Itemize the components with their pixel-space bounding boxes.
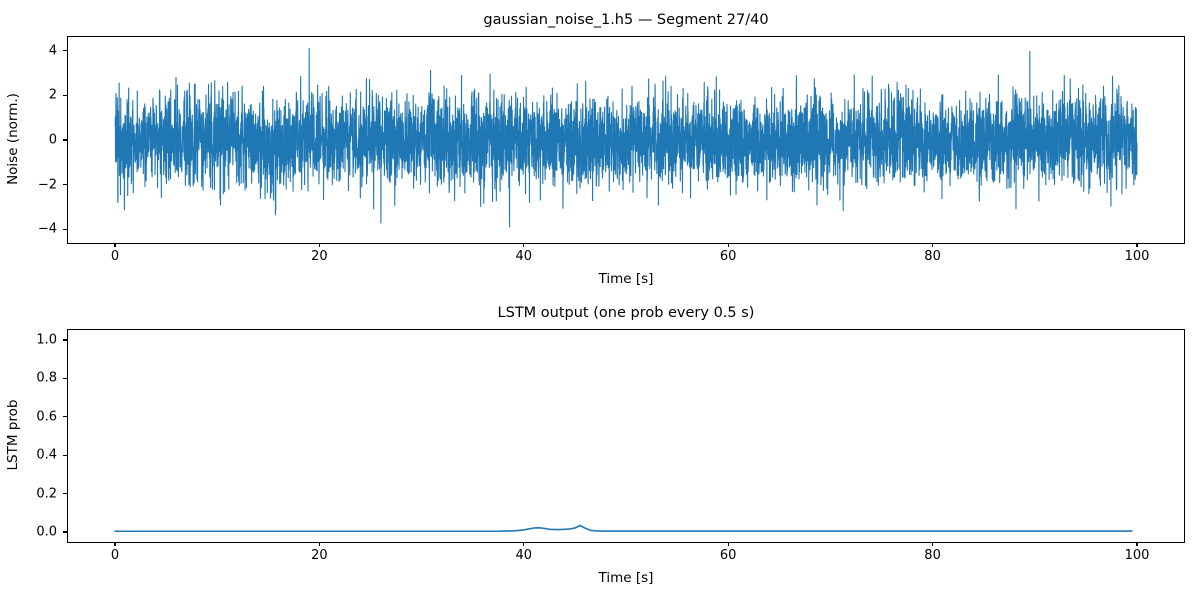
- x-tick-mark: [319, 542, 320, 546]
- y-tick-mark: [63, 50, 67, 51]
- x-tick-mark: [1136, 542, 1137, 546]
- y-tick-mark: [63, 95, 67, 96]
- x-tick-mark: [523, 243, 524, 247]
- x-axis-label: Time [s]: [67, 271, 1185, 287]
- x-tick-label: 60: [720, 249, 737, 264]
- noise-waveform-axes: gaussian_noise_1.h5 — Segment 27/40: [67, 36, 1185, 244]
- matplotlib-figure: gaussian_noise_1.h5 — Segment 27/40 LSTM…: [0, 0, 1200, 600]
- x-tick-mark: [932, 243, 933, 247]
- y-tick-mark: [63, 455, 67, 456]
- y-tick-mark: [63, 531, 67, 532]
- y-tick-mark: [63, 339, 67, 340]
- x-tick-mark: [728, 542, 729, 546]
- x-tick-label: 0: [111, 548, 119, 563]
- noise-trace: [115, 49, 1137, 227]
- x-tick-mark: [114, 243, 115, 247]
- x-tick-mark: [319, 243, 320, 247]
- x-tick-label: 80: [924, 548, 941, 563]
- lstm-probability-title: LSTM output (one prob every 0.5 s): [68, 305, 1184, 321]
- lstm-probability-axes: LSTM output (one prob every 0.5 s): [67, 329, 1185, 543]
- x-tick-label: 100: [1125, 548, 1150, 563]
- x-tick-mark: [114, 542, 115, 546]
- noise-waveform-title: gaussian_noise_1.h5 — Segment 27/40: [68, 12, 1184, 28]
- noise-waveform-plot: [68, 37, 1184, 243]
- x-axis-label: Time [s]: [67, 570, 1185, 586]
- x-tick-label: 40: [516, 548, 533, 563]
- x-tick-label: 0: [111, 249, 119, 264]
- x-tick-label: 60: [720, 548, 737, 563]
- x-tick-mark: [1136, 243, 1137, 247]
- y-axis-label: LSTM prob: [5, 328, 21, 542]
- x-tick-label: 40: [516, 249, 533, 264]
- x-tick-mark: [932, 542, 933, 546]
- x-tick-label: 20: [311, 548, 328, 563]
- x-tick-label: 80: [924, 249, 941, 264]
- lstm-probability-plot: [68, 330, 1184, 542]
- x-tick-label: 100: [1125, 249, 1150, 264]
- x-tick-mark: [523, 542, 524, 546]
- y-tick-mark: [63, 139, 67, 140]
- x-tick-label: 20: [311, 249, 328, 264]
- y-tick-mark: [63, 416, 67, 417]
- y-tick-mark: [63, 229, 67, 230]
- y-tick-mark: [63, 493, 67, 494]
- x-tick-mark: [728, 243, 729, 247]
- y-tick-mark: [63, 184, 67, 185]
- y-axis-label: Noise (norm.): [5, 35, 21, 243]
- y-tick-mark: [63, 378, 67, 379]
- lstm-prob-trace: [115, 525, 1132, 531]
